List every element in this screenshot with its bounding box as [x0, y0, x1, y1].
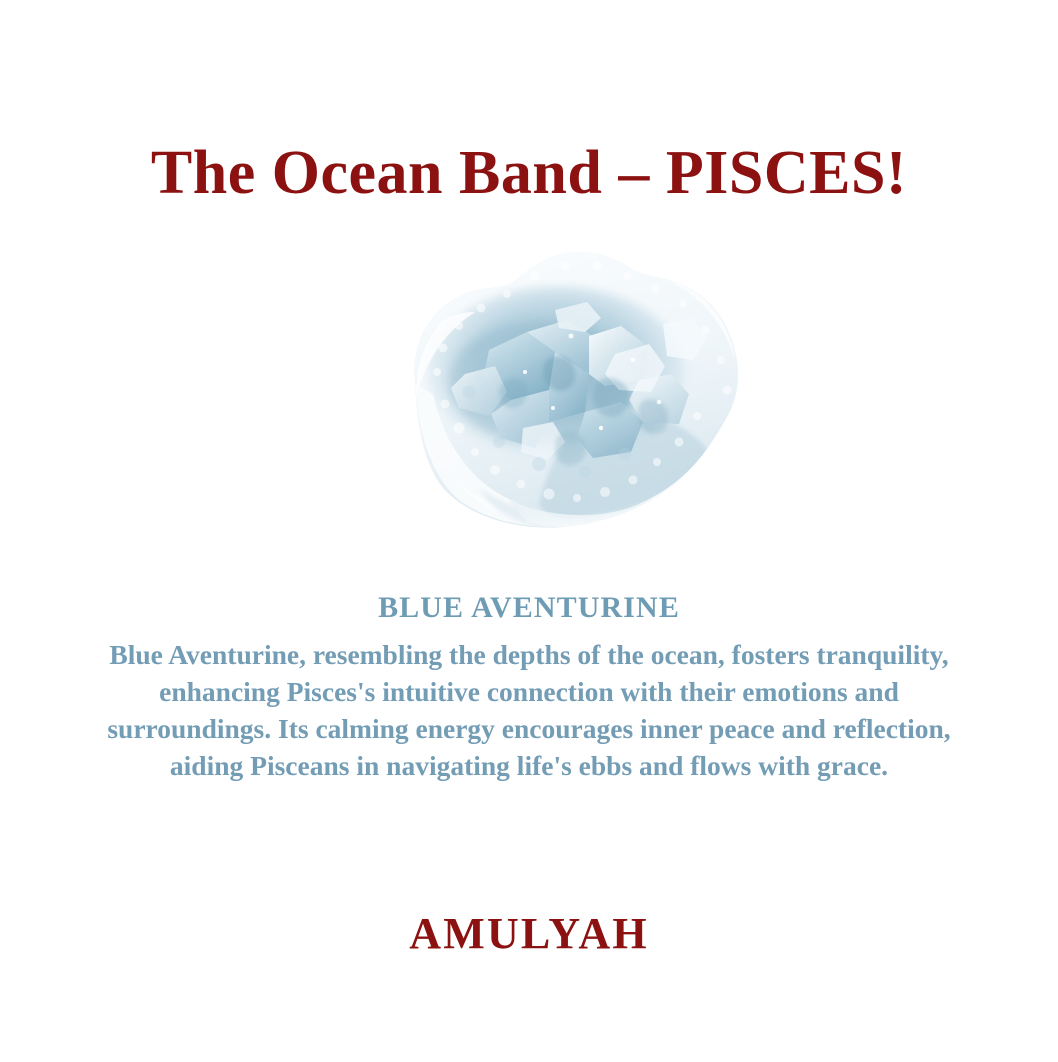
stone-description: Blue Aventurine, resembling the depths o…	[95, 636, 963, 784]
page-title: The Ocean Band – PISCES!	[0, 140, 1058, 207]
blue-aventurine-geode-icon	[349, 232, 753, 544]
brand-name: AMULYAH	[0, 908, 1058, 959]
crystal-image	[349, 232, 753, 544]
product-card: The Ocean Band – PISCES!	[0, 0, 1058, 1062]
stone-name: BLUE AVENTURINE	[0, 591, 1058, 625]
